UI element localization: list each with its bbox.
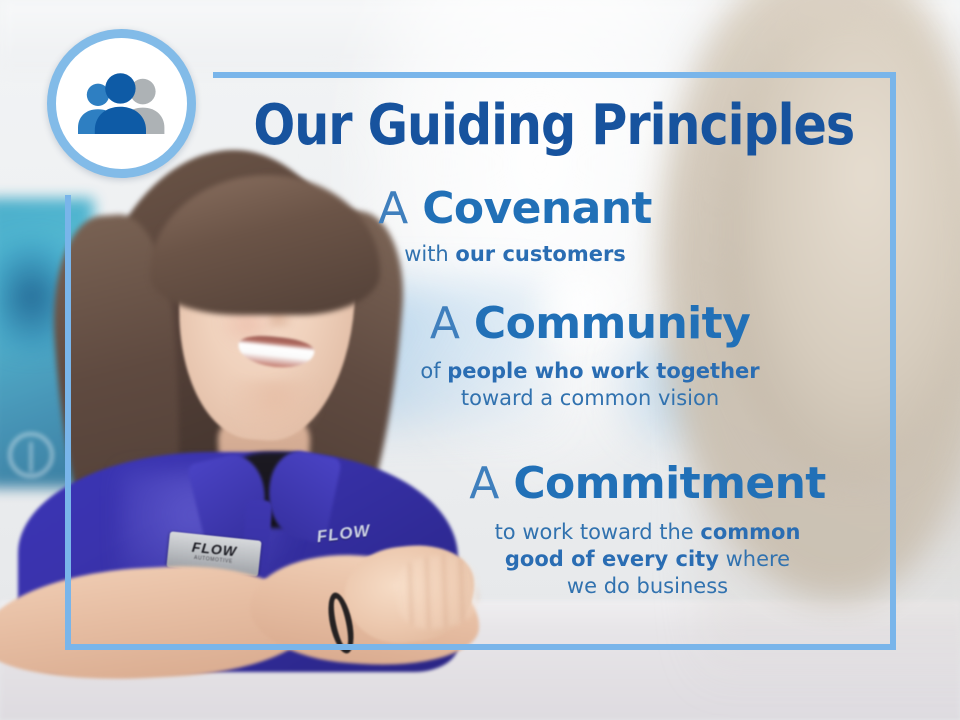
subtext-emphasis: people who work together <box>447 359 759 383</box>
principle-heading: A Community <box>355 302 825 347</box>
principle-keyword: Community <box>474 298 750 349</box>
subtext-emphasis: common <box>700 520 800 544</box>
subtext-line: we do business <box>420 573 875 600</box>
subtext-line: to work toward the common <box>420 519 875 546</box>
subtext-run: where <box>719 547 790 571</box>
principle-commitment: A Commitment to work toward the commongo… <box>420 462 875 601</box>
poster-text-content: Our Guiding Principles A Covenant with o… <box>0 0 960 720</box>
page-title: Our Guiding Principles <box>253 93 816 158</box>
subtext-run: toward a common vision <box>461 386 719 410</box>
subtext-line: of people who work together <box>355 358 825 385</box>
principle-heading: A Commitment <box>420 462 875 507</box>
principle-article: A <box>430 298 474 349</box>
principle-subtext: of people who work togethertoward a comm… <box>355 358 825 413</box>
principle-subtext: to work toward the commongood of every c… <box>420 519 875 601</box>
principle-heading: A Covenant <box>300 187 730 232</box>
subtext-line: with our customers <box>300 241 730 268</box>
subtext-run: of <box>420 359 447 383</box>
subtext-line: toward a common vision <box>355 385 825 412</box>
subtext-emphasis: our customers <box>455 242 625 266</box>
principle-covenant: A Covenant with our customers <box>300 187 730 268</box>
principle-keyword: Commitment <box>513 458 825 509</box>
principle-article: A <box>469 458 513 509</box>
subtext-run: we do business <box>567 574 728 598</box>
subtext-line: good of every city where <box>420 546 875 573</box>
principle-article: A <box>378 183 422 234</box>
principle-keyword: Covenant <box>422 183 652 234</box>
subtext-run: to work toward the <box>495 520 701 544</box>
subtext-emphasis: good of every city <box>505 547 719 571</box>
subtext-run: with <box>404 242 455 266</box>
principle-community: A Community of people who work togethert… <box>355 302 825 412</box>
principle-subtext: with our customers <box>300 241 730 268</box>
